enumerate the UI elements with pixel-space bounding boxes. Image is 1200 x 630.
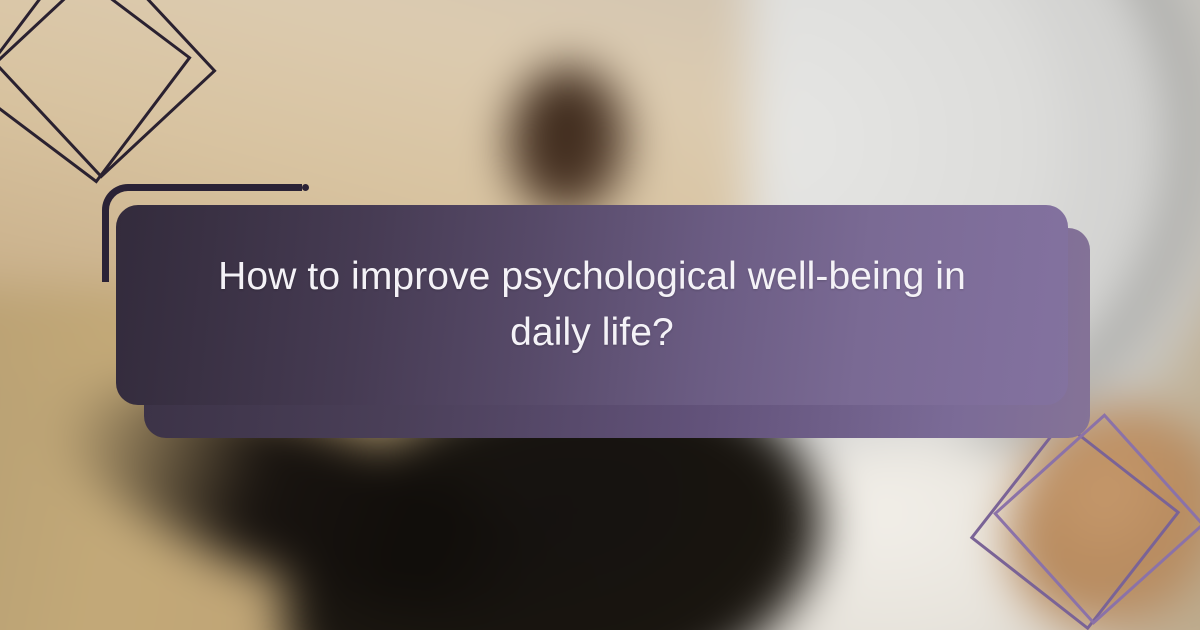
title-banner: How to improve psychological well-being … <box>116 205 1068 405</box>
square-outline-icon <box>993 413 1200 625</box>
page-title: How to improve psychological well-being … <box>202 249 982 361</box>
hero-canvas: How to improve psychological well-being … <box>0 0 1200 630</box>
decoration-squares-top-left <box>0 0 236 212</box>
decoration-squares-bottom-right <box>982 428 1200 630</box>
square-outline-icon <box>0 0 217 179</box>
background-person-head <box>510 66 627 214</box>
